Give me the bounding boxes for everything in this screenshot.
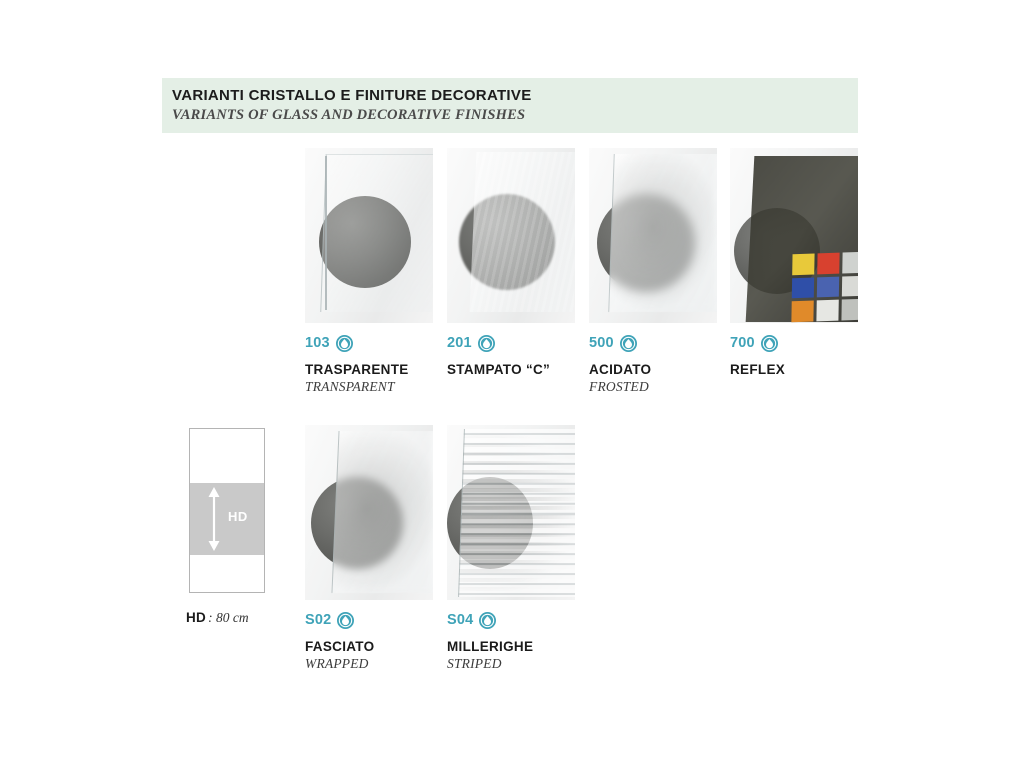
glass-pane [470,152,575,312]
droplet-icon [478,335,495,352]
sample-thumbnail-s04 [447,425,575,600]
stripe-refraction-overlay [458,429,575,597]
sample-code: 201 [447,335,472,351]
sample-caption-500: 500 ACIDATO FROSTED [589,333,717,395]
sample-code: 500 [589,335,614,351]
swatch [817,253,839,274]
glass-edge [325,156,327,310]
sample-caption-201: 201 STAMPATO “C” [447,333,575,377]
swatch [817,276,839,297]
sample-name-it: REFLEX [730,362,858,377]
sample-card-s04[interactable]: S04 MILLERIGHE STRIPED [447,425,575,672]
sample-card-201[interactable]: 201 STAMPATO “C” [447,148,575,379]
page-title: VARIANTI CRISTALLO E FINITURE DECORATIVE [172,86,858,105]
sample-code: 103 [305,335,330,351]
swatch [816,300,838,321]
droplet-icon [336,335,353,352]
droplet-icon [479,612,496,629]
sample-card-s02[interactable]: S02 FASCIATO WRAPPED [305,425,433,672]
sample-thumbnail-103 [305,148,433,323]
hd-diagram: HD [189,428,265,593]
sample-code: 700 [730,335,755,351]
droplet-icon [337,612,354,629]
sample-thumbnail-s02 [305,425,433,600]
code-row: 103 [305,333,433,353]
sample-caption-103: 103 TRASPARENTE TRANSPARENT [305,333,433,395]
sample-name-it: ACIDATO [589,362,717,377]
code-row: 700 [730,333,858,353]
swatch [792,254,814,275]
sample-card-700[interactable]: 700 REFLEX [730,148,858,379]
swatch [842,252,858,273]
sample-card-103[interactable]: 103 TRASPARENTE TRANSPARENT [305,148,433,395]
sample-name-en: TRANSPARENT [305,379,433,395]
code-row: 201 [447,333,575,353]
sample-thumbnail-700 [730,148,858,323]
code-row: 500 [589,333,717,353]
swatch [792,277,814,298]
swatch [841,299,858,320]
hd-double-arrow-icon [207,487,221,551]
sample-name-it: TRASPARENTE [305,362,433,377]
color-checker-swatches [791,252,858,322]
frost-overlay [608,154,717,312]
hd-band-label: HD [228,509,248,524]
sample-name-en: FROSTED [589,379,717,395]
code-row: S02 [305,610,433,630]
sample-code: S04 [447,612,473,628]
swatch [791,301,813,322]
hd-caption-key: HD [186,610,206,625]
sample-caption-s04: S04 MILLERIGHE STRIPED [447,610,575,672]
swatch [842,275,858,296]
section-header-band: VARIANTI CRISTALLO E FINITURE DECORATIVE… [162,78,858,133]
page-subtitle: VARIANTS OF GLASS AND DECORATIVE FINISHE… [172,105,858,125]
sample-name-en: WRAPPED [305,656,433,672]
hd-band [190,483,264,555]
sample-name-it: STAMPATO “C” [447,362,575,377]
sample-code: S02 [305,612,331,628]
sample-name-it: FASCIATO [305,639,433,654]
sample-card-500[interactable]: 500 ACIDATO FROSTED [589,148,717,395]
sample-name-en: STRIPED [447,656,575,672]
sample-caption-700: 700 REFLEX [730,333,858,377]
hd-caption: HD: 80 cm [186,610,249,626]
frost-overlay [331,431,433,593]
sample-thumbnail-500 [589,148,717,323]
glass-pane [320,154,433,312]
droplet-icon [761,335,778,352]
hd-caption-value: : 80 cm [208,610,249,625]
sample-thumbnail-201 [447,148,575,323]
sample-caption-s02: S02 FASCIATO WRAPPED [305,610,433,672]
code-row: S04 [447,610,575,630]
droplet-icon [620,335,637,352]
sample-name-it: MILLERIGHE [447,639,575,654]
